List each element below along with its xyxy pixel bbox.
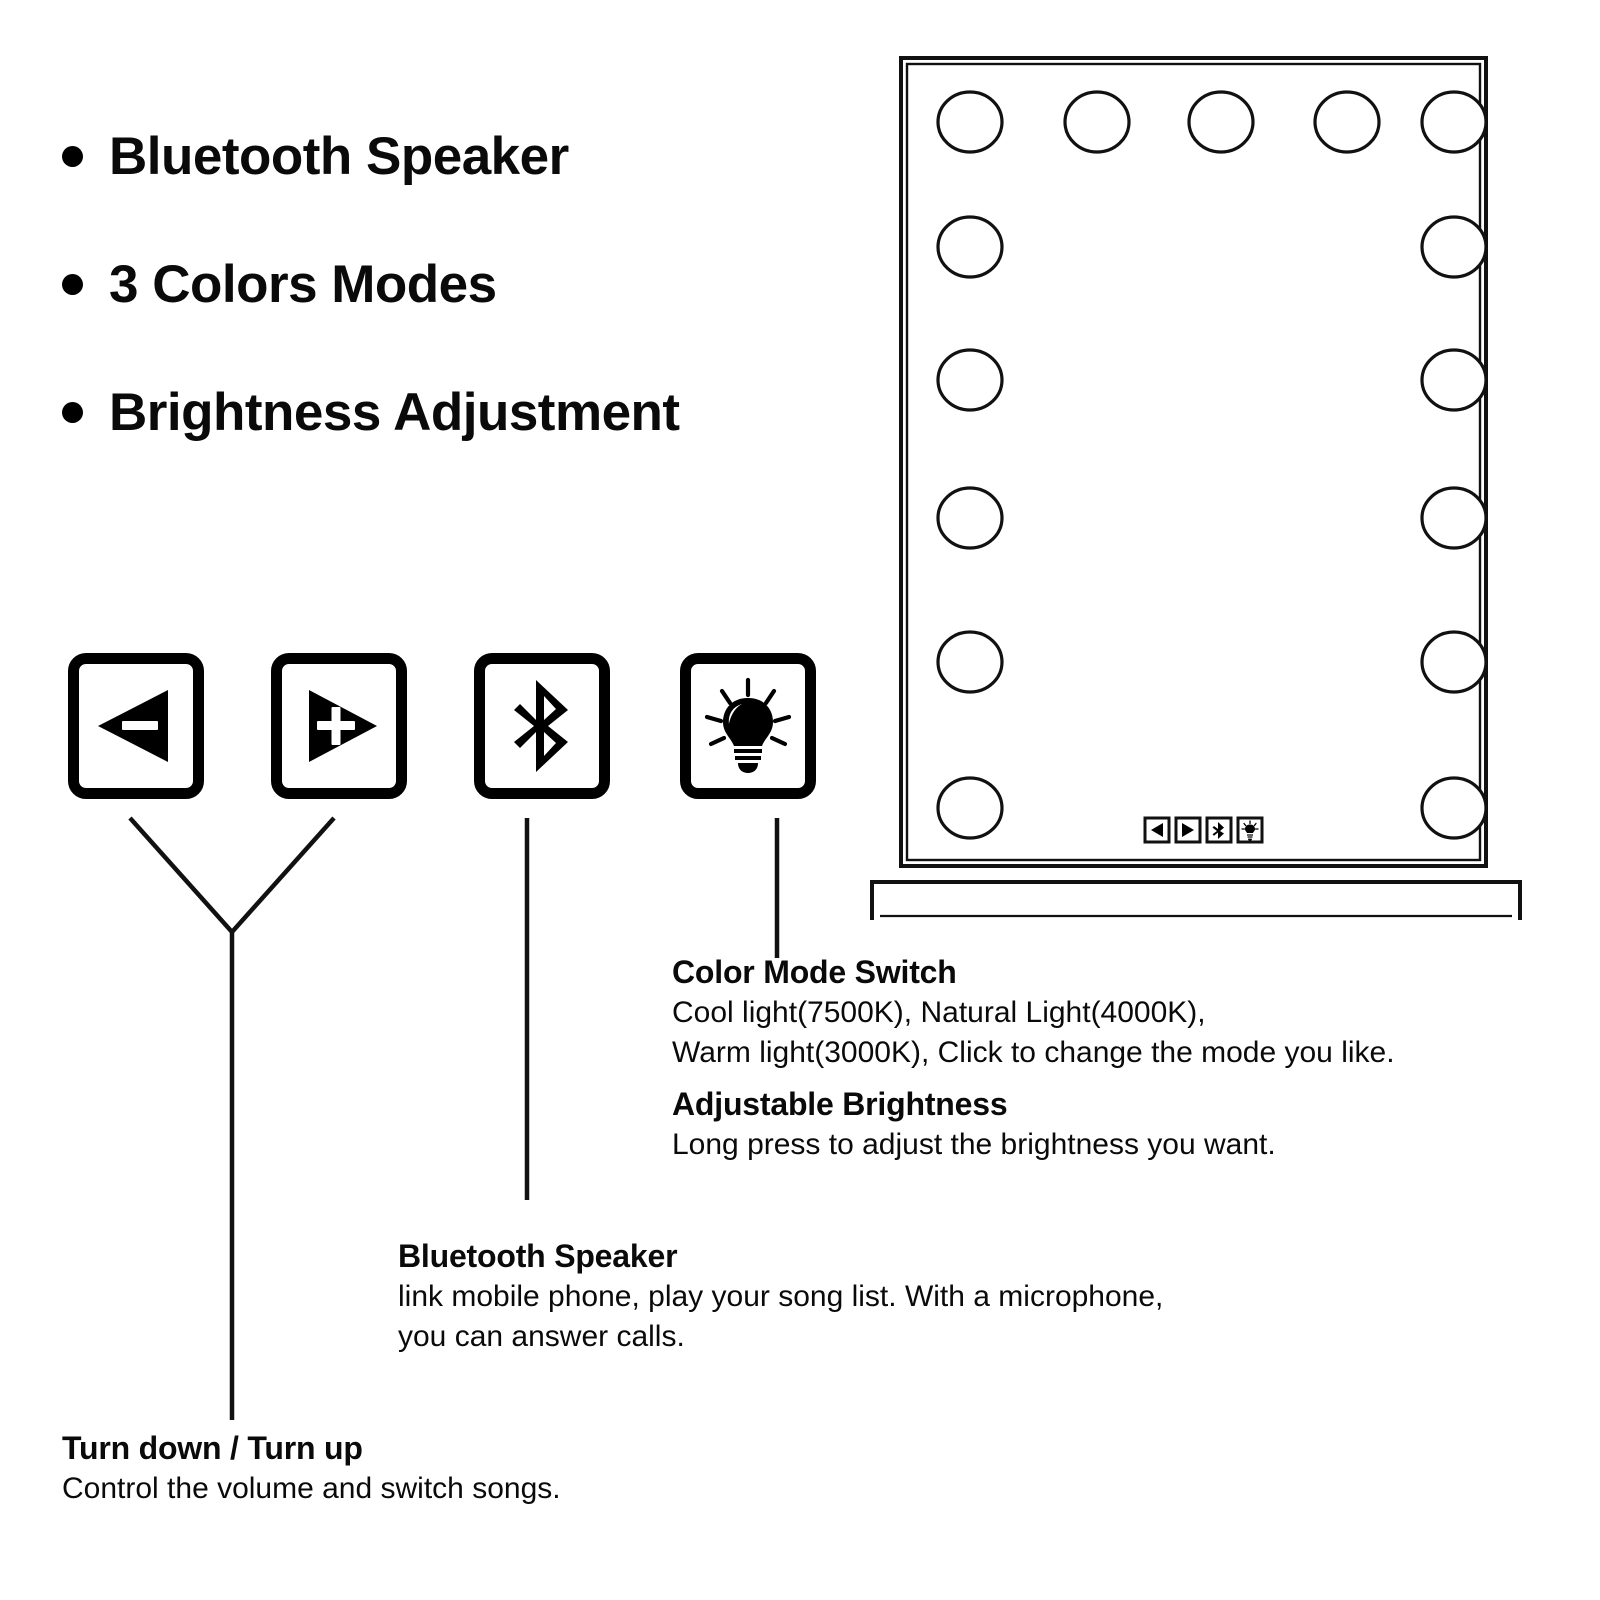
panel-lightbulb-icon <box>1238 818 1262 842</box>
bulb <box>1422 350 1486 410</box>
bulb <box>1315 92 1379 152</box>
mirror-base <box>872 882 1520 920</box>
panel-triangle-left-icon <box>1145 818 1169 842</box>
callout-line: Long press to adjust the brightness you … <box>672 1125 1572 1165</box>
bulb <box>938 778 1002 838</box>
callout-line: Warm light(3000K), Click to change the m… <box>672 1033 1572 1073</box>
bullet-icon <box>62 146 83 167</box>
bulb <box>938 488 1002 548</box>
callout-brightness: Adjustable Brightness Long press to adju… <box>672 1084 1572 1165</box>
feature-label: 3 Colors Modes <box>109 258 497 311</box>
callout-line: Cool light(7500K), Natural Light(4000K), <box>672 993 1572 1033</box>
feature-item: 3 Colors Modes <box>62 220 862 348</box>
feature-item: Bluetooth Speaker <box>62 92 862 220</box>
bulb <box>1422 488 1486 548</box>
callout-line: Control the volume and switch songs. <box>62 1469 962 1509</box>
callout-body: link mobile phone, play your song list. … <box>398 1277 1358 1356</box>
callout-volume: Turn down / Turn up Control the volume a… <box>62 1428 962 1509</box>
callout-body: Long press to adjust the brightness you … <box>672 1125 1572 1165</box>
callout-line: you can answer calls. <box>398 1317 1358 1357</box>
callout-title: Bluetooth Speaker <box>398 1236 1358 1277</box>
lightbulb-icon <box>698 676 798 776</box>
infographic-page: Bluetooth Speaker 3 Colors Modes Brightn… <box>0 0 1600 1600</box>
bulb <box>938 350 1002 410</box>
bulb <box>1065 92 1129 152</box>
bullet-icon <box>62 274 83 295</box>
volume-up-button[interactable] <box>271 653 407 799</box>
panel-bluetooth-icon <box>1207 818 1231 842</box>
vanity-mirror-illustration <box>860 40 1560 920</box>
callout-title: Turn down / Turn up <box>62 1428 962 1469</box>
bulb <box>938 92 1002 152</box>
feature-list: Bluetooth Speaker 3 Colors Modes Brightn… <box>62 92 862 476</box>
bulb <box>938 632 1002 692</box>
bulb <box>1422 778 1486 838</box>
bulb <box>1189 92 1253 152</box>
callout-bluetooth: Bluetooth Speaker link mobile phone, pla… <box>398 1236 1358 1356</box>
bluetooth-button[interactable] <box>474 653 610 799</box>
mirror-frame-outer <box>901 58 1486 866</box>
triangle-right-plus-icon <box>293 680 385 772</box>
feature-label: Bluetooth Speaker <box>109 130 569 183</box>
panel-triangle-right-icon <box>1176 818 1200 842</box>
feature-label: Brightness Adjustment <box>109 386 680 439</box>
callout-title: Adjustable Brightness <box>672 1084 1572 1125</box>
callout-title: Color Mode Switch <box>672 952 1572 993</box>
control-icon-row <box>68 653 858 803</box>
callout-color-mode: Color Mode Switch Cool light(7500K), Nat… <box>672 952 1572 1072</box>
callout-body: Cool light(7500K), Natural Light(4000K),… <box>672 993 1572 1072</box>
bulb <box>1422 632 1486 692</box>
bulb <box>938 217 1002 277</box>
bulb <box>1422 92 1486 152</box>
bluetooth-icon <box>506 676 578 776</box>
callout-body: Control the volume and switch songs. <box>62 1469 962 1509</box>
triangle-left-minus-icon <box>90 680 182 772</box>
volume-down-button[interactable] <box>68 653 204 799</box>
bullet-icon <box>62 402 83 423</box>
bulb <box>1422 217 1486 277</box>
feature-item: Brightness Adjustment <box>62 348 862 476</box>
light-button[interactable] <box>680 653 816 799</box>
callout-line: link mobile phone, play your song list. … <box>398 1277 1358 1317</box>
